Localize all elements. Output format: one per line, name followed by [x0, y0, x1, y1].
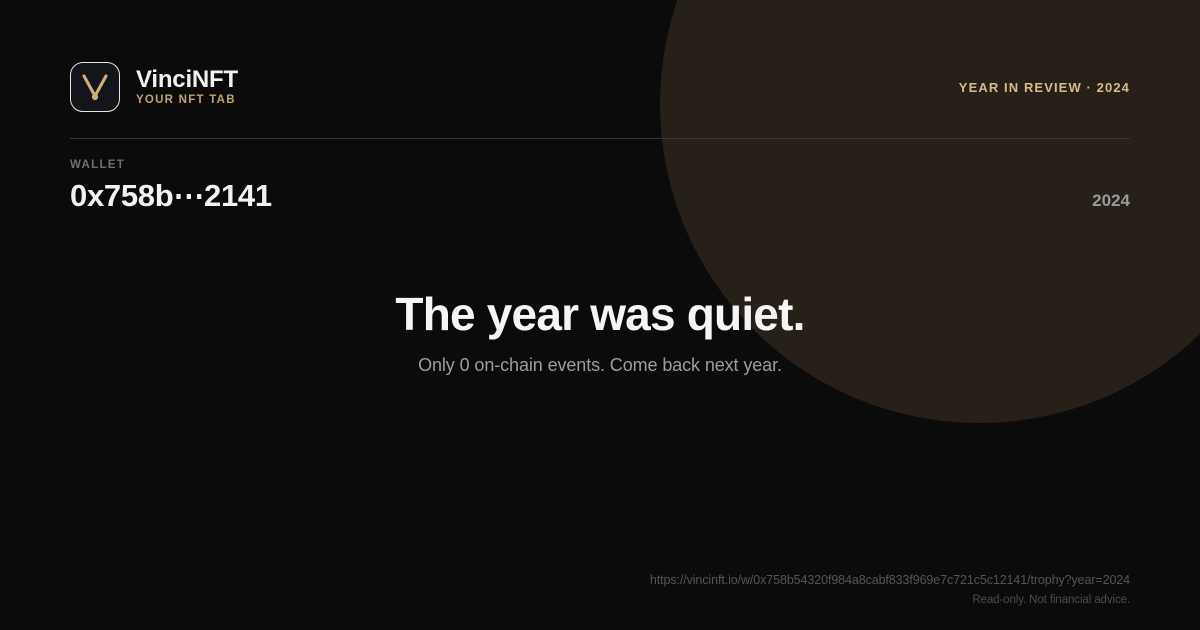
brand-text: VinciNFT YOUR NFT TAB — [136, 67, 238, 107]
wallet-address[interactable]: 0x758b⋯2141 — [70, 179, 272, 213]
logo-badge — [70, 62, 120, 112]
footer-disclaimer: Read-only. Not financial advice. — [972, 594, 1130, 608]
footer: https://vincinft.io/w/0x758b54320f984a8c… — [650, 573, 1130, 608]
brand[interactable]: VinciNFT YOUR NFT TAB — [70, 62, 238, 112]
brand-name: VinciNFT — [136, 67, 238, 93]
card-content: VinciNFT YOUR NFT TAB YEAR IN REVIEW · 2… — [0, 0, 1200, 630]
brand-tagline: YOUR NFT TAB — [136, 94, 238, 107]
wallet-year: 2024 — [1092, 192, 1130, 213]
header-divider — [70, 138, 1130, 139]
footer-url[interactable]: https://vincinft.io/w/0x758b54320f984a8c… — [650, 573, 1130, 588]
hero-section: The year was quiet. Only 0 on-chain even… — [0, 288, 1200, 377]
year-in-review-card: VinciNFT YOUR NFT TAB YEAR IN REVIEW · 2… — [0, 0, 1200, 630]
hero-title: The year was quiet. — [0, 288, 1200, 341]
header-meta-label: YEAR IN REVIEW · 2024 — [959, 80, 1130, 95]
wallet-row: WALLET 0x758b⋯2141 2024 — [70, 160, 1130, 213]
wallet-label: WALLET — [70, 160, 272, 172]
hero-subtitle: Only 0 on-chain events. Come back next y… — [0, 354, 1200, 377]
wallet-block: WALLET 0x758b⋯2141 — [70, 160, 272, 213]
v-pendant-icon — [80, 71, 110, 103]
header: VinciNFT YOUR NFT TAB YEAR IN REVIEW · 2… — [70, 58, 1130, 116]
